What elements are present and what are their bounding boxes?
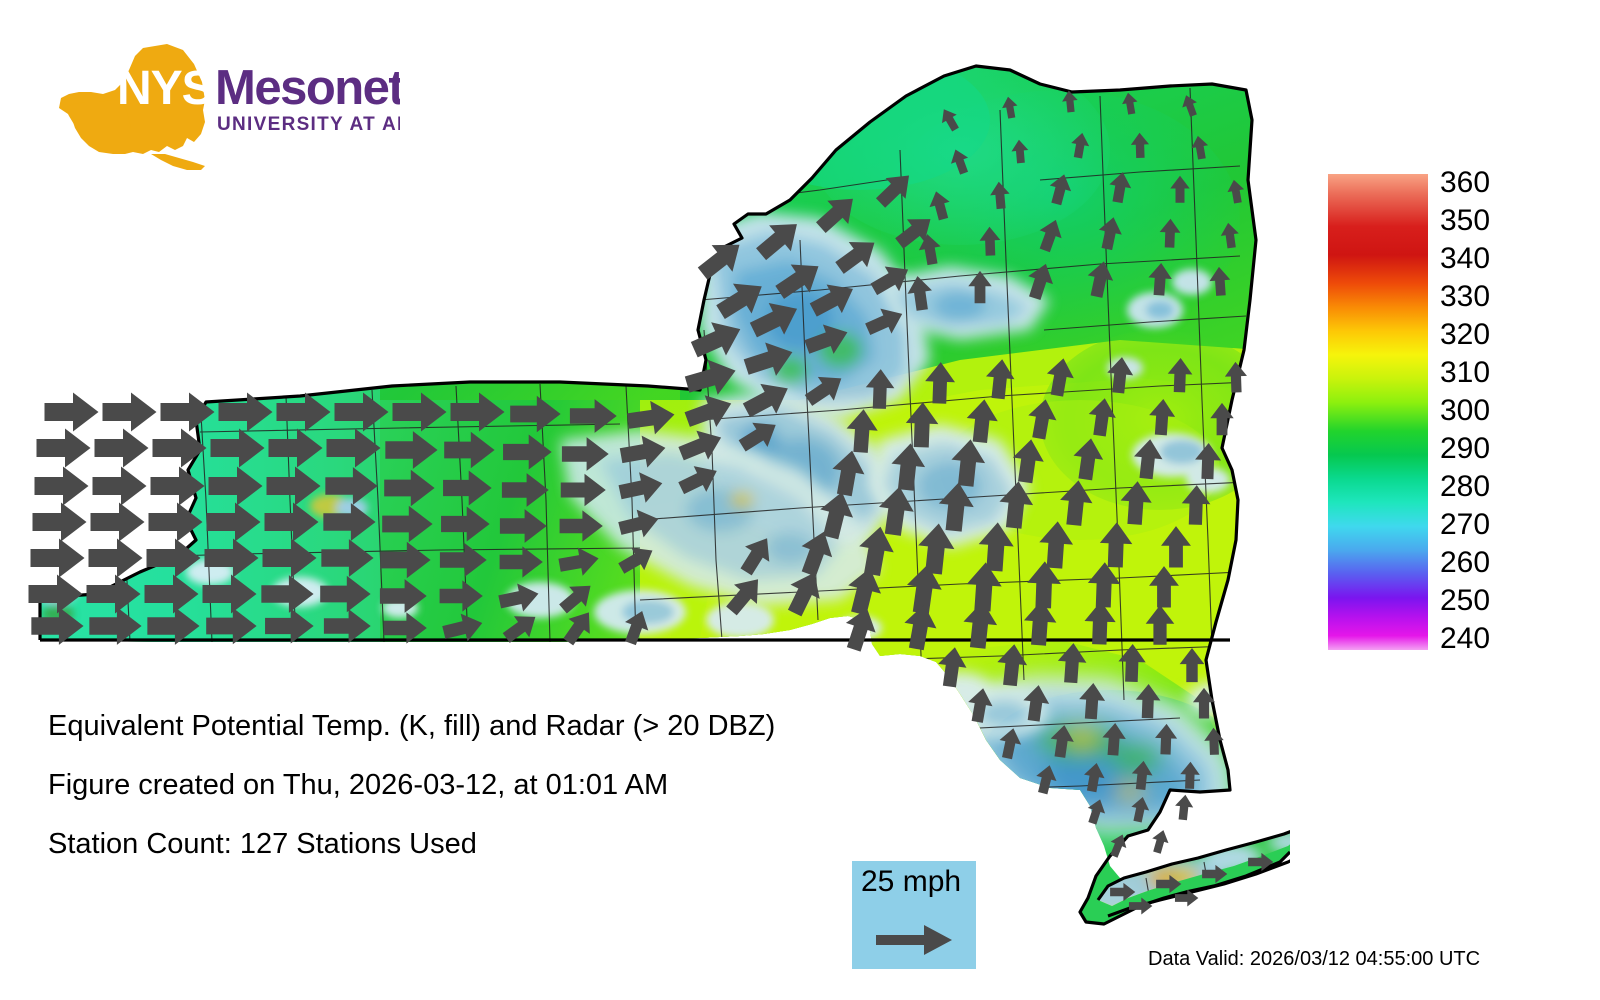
data-valid-timestamp: Data Valid: 2026/03/12 04:55:00 UTC [1148, 948, 1480, 971]
colorbar-tick-290: 290 [1440, 434, 1490, 464]
wind-legend-label: 25 mph [861, 867, 961, 897]
colorbar-tick-240: 240 [1440, 624, 1490, 654]
colorbar-tick-280: 280 [1440, 472, 1490, 502]
caption-created-time: Figure created on Thu, 2026-03-12, at 01… [48, 771, 948, 800]
caption-station-count: Station Count: 127 Stations Used [48, 830, 948, 859]
right-arrow-icon [876, 923, 954, 957]
colorbar-gradient [1328, 174, 1428, 650]
wind-speed-legend: 25 mph [852, 861, 976, 969]
colorbar-tick-320: 320 [1440, 320, 1490, 350]
colorbar: 360 350 340 330 320 310 300 290 280 270 … [1328, 174, 1578, 654]
colorbar-tick-330: 330 [1440, 282, 1490, 312]
caption-title: Equivalent Potential Temp. (K, fill) and… [48, 712, 948, 741]
figure-caption: Equivalent Potential Temp. (K, fill) and… [48, 712, 948, 889]
colorbar-tick-340: 340 [1440, 244, 1490, 274]
colorbar-tick-300: 300 [1440, 396, 1490, 426]
colorbar-tick-260: 260 [1440, 548, 1490, 578]
colorbar-tick-labels: 360 350 340 330 320 310 300 290 280 270 … [1440, 158, 1570, 658]
colorbar-tick-350: 350 [1440, 206, 1490, 236]
colorbar-tick-360: 360 [1440, 168, 1490, 198]
colorbar-tick-270: 270 [1440, 510, 1490, 540]
colorbar-tick-250: 250 [1440, 586, 1490, 616]
colorbar-tick-310: 310 [1440, 358, 1490, 388]
